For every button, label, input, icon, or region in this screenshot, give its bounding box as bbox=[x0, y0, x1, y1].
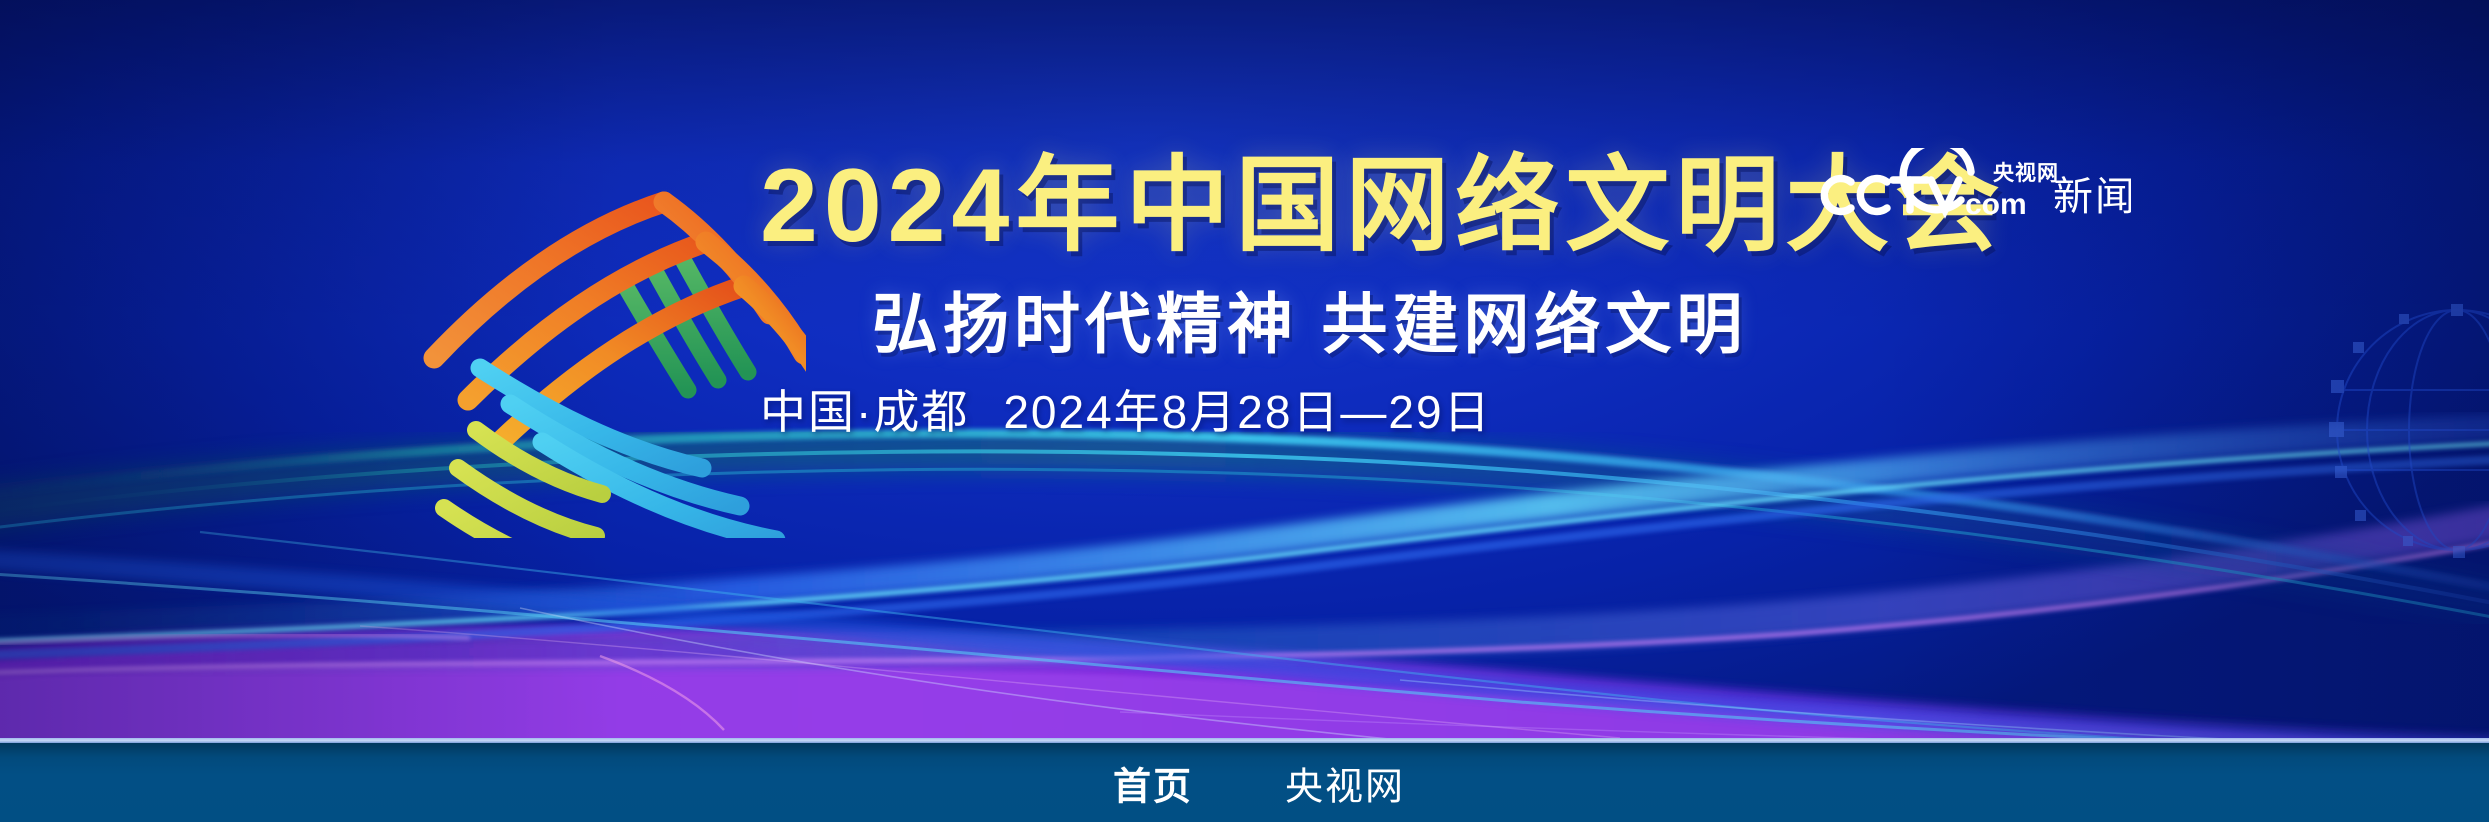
event-banner: 2024年中国网络文明大会 弘扬时代精神 共建网络文明 中国·成都 2024年8… bbox=[0, 0, 2489, 742]
headline-block: 2024年中国网络文明大会 弘扬时代精神 共建网络文明 中国·成都 2024年8… bbox=[760, 150, 2180, 438]
cctv-domain: com bbox=[1965, 188, 2027, 221]
nav-inner: 首页 央视网 bbox=[0, 743, 2489, 822]
cctv-channel-cn: 新闻 bbox=[2053, 175, 2131, 219]
cctv-news-logo[interactable]: 央视网 com 新闻 bbox=[1815, 148, 2131, 222]
page-subtitle: 弘扬时代精神 共建网络文明 bbox=[872, 288, 2180, 361]
event-date: 2024年8月28日—29日 bbox=[1003, 387, 1491, 438]
cctv-conference-banner-page: 2024年中国网络文明大会 弘扬时代精神 共建网络文明 中国·成都 2024年8… bbox=[0, 0, 2489, 822]
cctv-brand-cn: 央视网 bbox=[1993, 161, 2059, 185]
site-nav-bar: 首页 央视网 bbox=[0, 743, 2489, 822]
conference-emblem-icon bbox=[406, 168, 806, 538]
light-wave-background bbox=[0, 412, 2489, 742]
nav-item-cctv[interactable]: 央视网 bbox=[1285, 755, 1405, 810]
event-location: 中国·成都 bbox=[760, 387, 969, 438]
event-meta-row: 中国·成都 2024年8月28日—29日 bbox=[760, 387, 2180, 438]
nav-item-home[interactable]: 首页 bbox=[1113, 755, 1193, 810]
network-globe-icon bbox=[2307, 280, 2489, 580]
